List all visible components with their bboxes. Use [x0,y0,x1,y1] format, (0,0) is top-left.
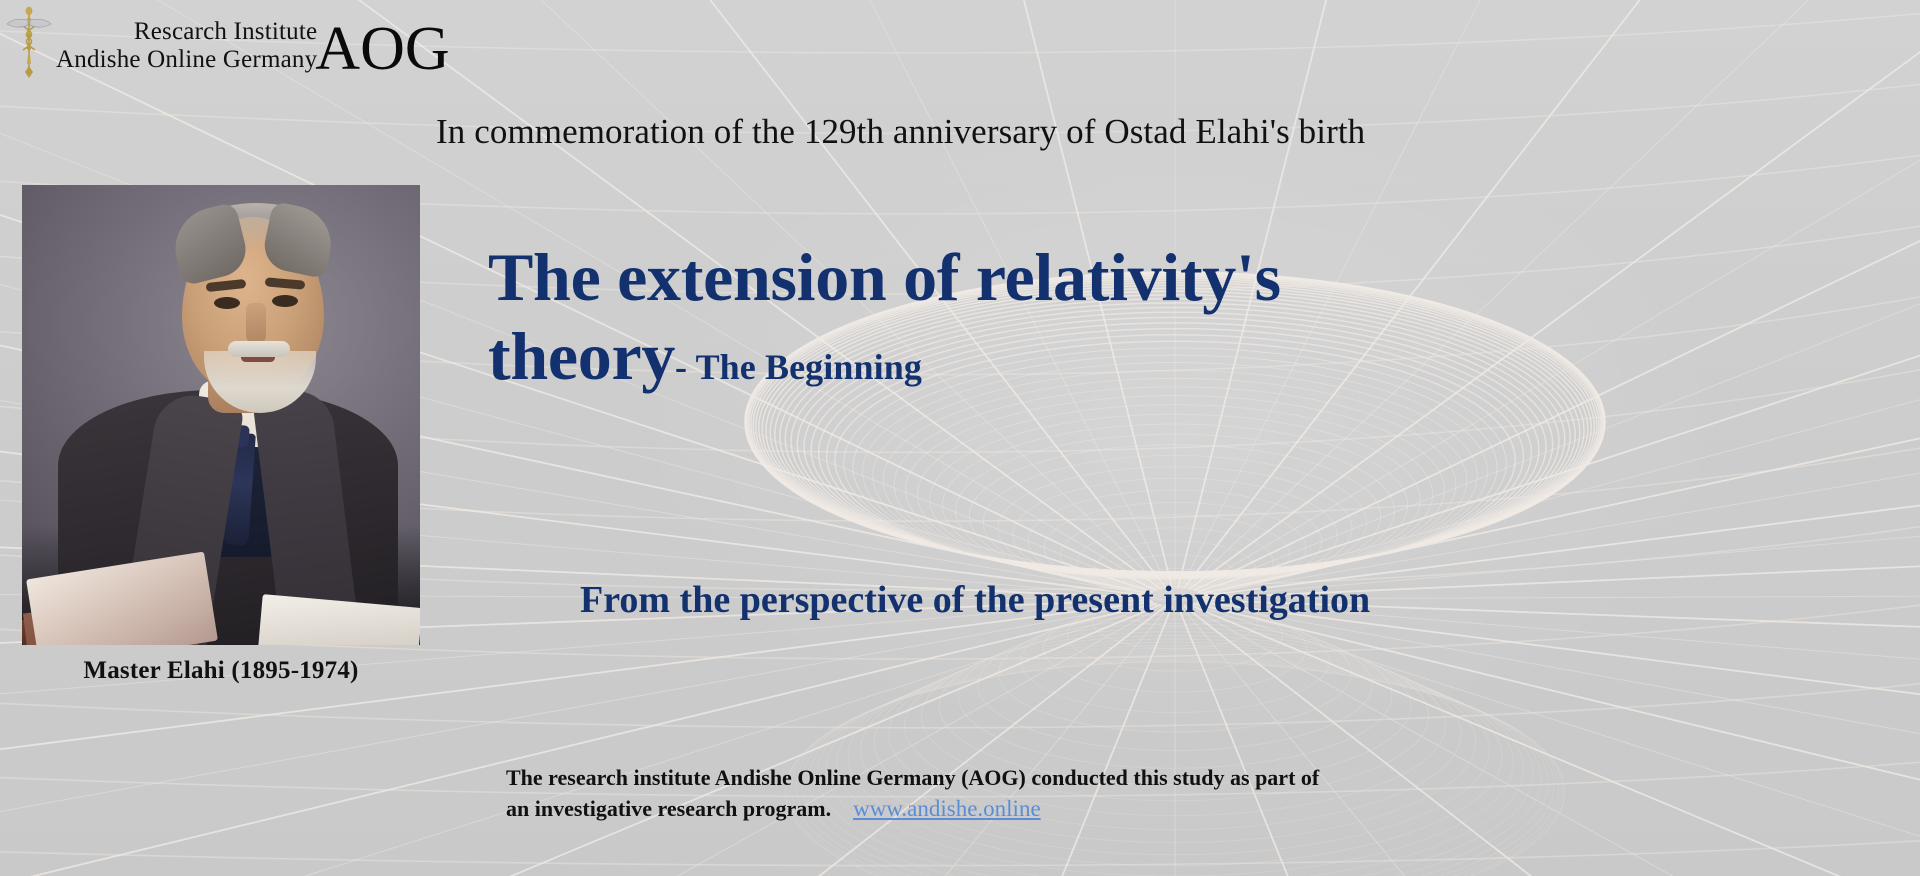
footer-line-2: an investigative research program. [506,793,831,824]
website-link[interactable]: www.andishe.online [853,793,1041,826]
main-headline: The extension of relativity's theory - T… [488,238,1488,396]
brand-logo[interactable]: Rescarch Institute Andishe Online German… [6,4,450,80]
portrait-block: Master Elahi (1895-1974) [22,185,420,685]
headline-line-2-row: theory - The Beginning [488,317,1488,396]
headline-line-1: The extension of relativity's [488,238,1488,317]
logo-line-1: Rescarch Institute [134,18,317,46]
caduceus-icon [6,4,52,78]
portrait-photo [22,185,420,645]
perspective-line: From the perspective of the present inve… [580,578,1370,622]
footer-line-2-row: an investigative research program. www.a… [506,793,1319,826]
portrait-nose [246,303,266,345]
logo-wordmark: Rescarch Institute Andishe Online German… [56,18,450,80]
footer-line-1: The research institute Andishe Online Ge… [506,762,1319,793]
portrait-caption: Master Elahi (1895-1974) [22,657,420,685]
footer-block: The research institute Andishe Online Ge… [506,762,1319,826]
portrait-eye-left [214,297,240,309]
logo-line-2: Andishe Online Germany [56,46,317,74]
headline-subtitle-inline: - The Beginning [675,347,922,389]
portrait-eye-right [272,295,298,307]
headline-line-2: theory [488,317,675,396]
commemoration-line: In commemoration of the 129th anniversar… [436,112,1365,152]
logo-acronym: AOG [315,21,449,78]
portrait-moustache [228,341,290,357]
poster-canvas: Rescarch Institute Andishe Online German… [0,0,1920,876]
